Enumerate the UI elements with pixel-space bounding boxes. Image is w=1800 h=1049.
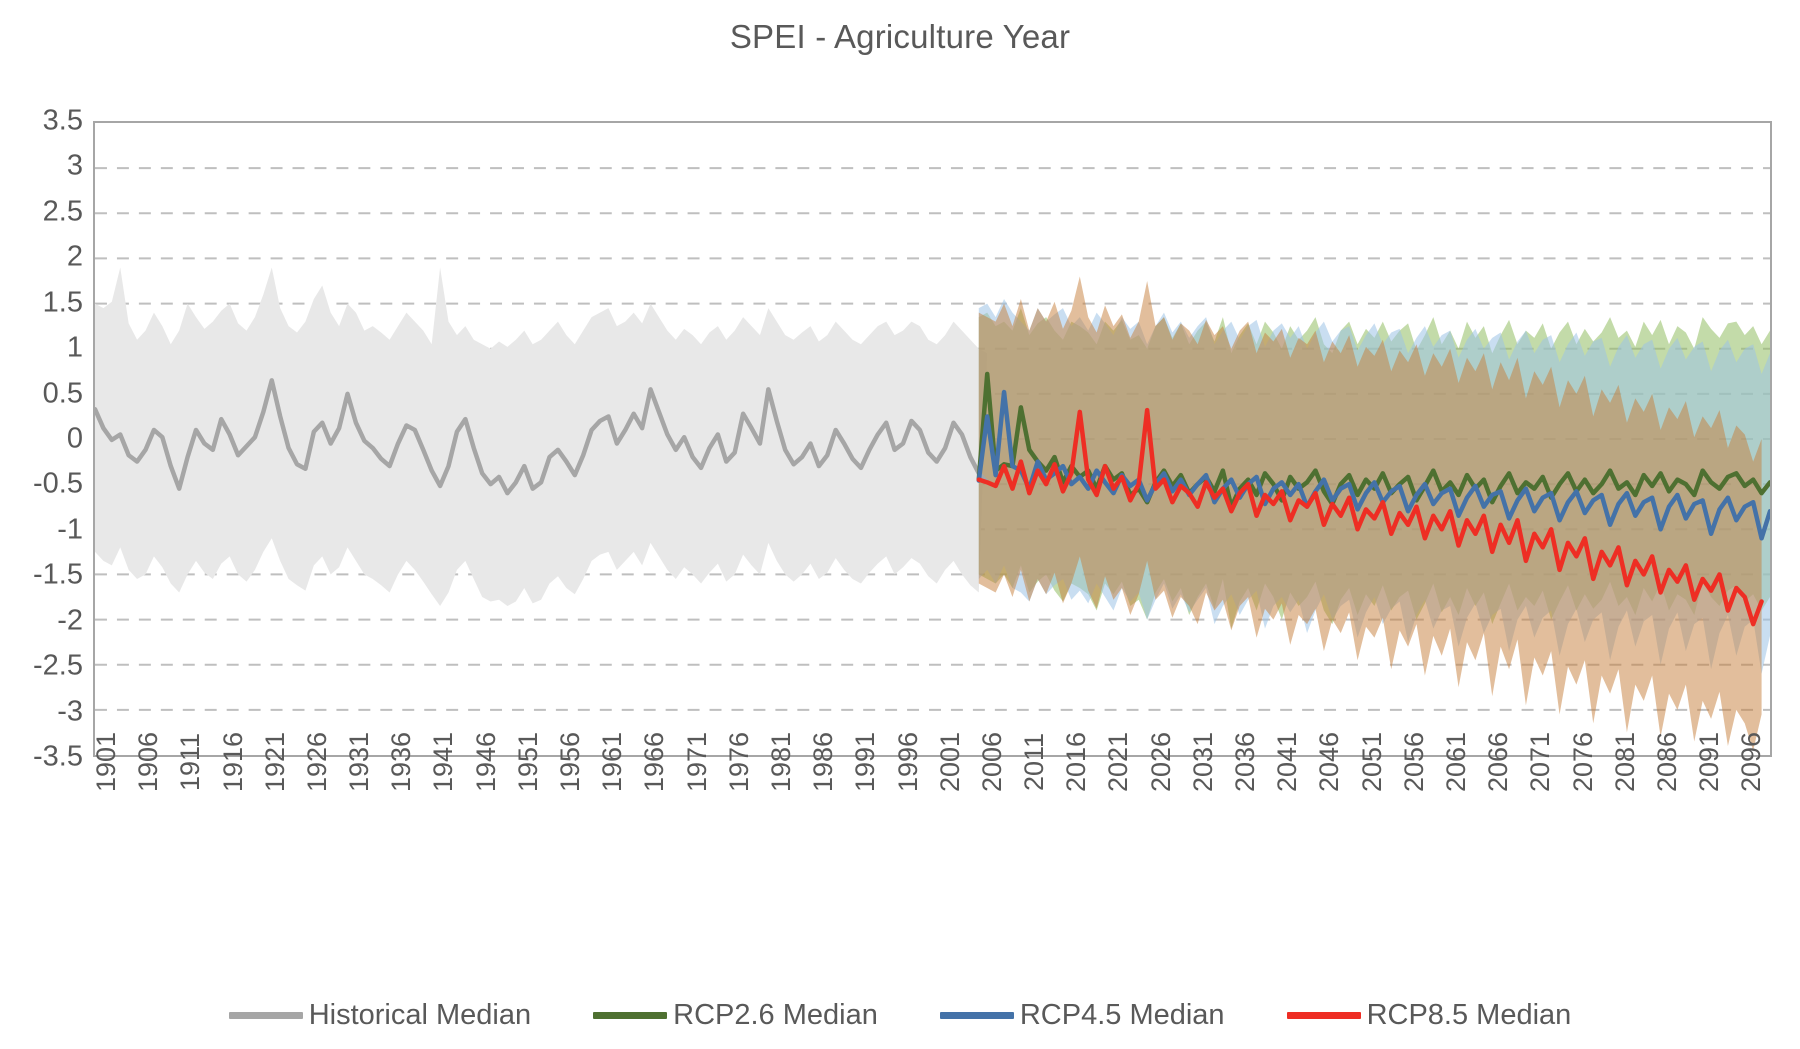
x-tick-label: 1931 [346,732,373,792]
plot-canvas [95,123,1770,755]
x-tick-label: 2016 [1063,732,1090,792]
legend-label: RCP8.5 Median [1367,1001,1572,1030]
x-tick-label: 2051 [1359,732,1386,792]
legend-item-2[interactable]: RCP2.6 Median [593,1001,878,1030]
x-tick-label: 1946 [473,732,500,792]
x-tick-label: 1981 [768,732,795,792]
x-tick-label: 1996 [895,732,922,792]
legend-label: RCP4.5 Median [1020,1001,1225,1030]
legend-line-icon [593,1012,667,1019]
y-tick-label: -3 [57,697,83,726]
x-tick-label: 2041 [1274,732,1301,792]
x-tick-label: 2056 [1401,732,1428,792]
y-tick-label: 0.5 [43,379,83,408]
x-tick-label: 1916 [220,732,247,792]
chart-legend: Historical MedianRCP2.6 MedianRCP4.5 Med… [0,995,1800,1035]
y-axis: 3.532.521.510.50-0.5-1-1.5-2-2.5-3-3.5 [0,121,83,757]
y-tick-label: 1 [67,334,83,363]
x-tick-label: 2026 [1148,732,1175,792]
legend-item-4[interactable]: RCP8.5 Median [1287,1001,1572,1030]
legend-line-icon [1287,1012,1361,1019]
x-tick-label: 1961 [599,732,626,792]
x-tick-label: 1901 [93,732,120,792]
x-tick-label: 2066 [1485,732,1512,792]
y-tick-label: -1.5 [33,561,83,590]
y-tick-label: 3 [67,152,83,181]
legend-line-icon [229,1012,303,1019]
x-tick-label: 1926 [304,732,331,792]
x-tick-label: 1921 [262,732,289,792]
x-tick-label: 1951 [515,732,542,792]
y-tick-label: 1.5 [43,288,83,317]
y-tick-label: 0 [67,425,83,454]
x-tick-label: 2061 [1443,732,1470,792]
legend-label: Historical Median [309,1001,531,1030]
x-tick-label: 1966 [641,732,668,792]
x-axis: 1901190619111916192119261931193619411946… [93,762,1772,882]
x-tick-label: 2076 [1570,732,1597,792]
x-tick-label: 1976 [726,732,753,792]
x-tick-label: 2071 [1527,732,1554,792]
x-tick-label: 1936 [388,732,415,792]
y-tick-label: -2 [57,606,83,635]
x-tick-label: 2011 [1021,733,1048,791]
x-tick-label: 2021 [1105,732,1132,792]
plot-area [93,121,1772,757]
legend-item-1[interactable]: Historical Median [229,1001,531,1030]
x-tick-label: 2091 [1696,732,1723,792]
x-tick-label: 2036 [1232,732,1259,792]
y-tick-label: 2.5 [43,197,83,226]
x-tick-label: 1911 [177,733,204,791]
x-tick-label: 1941 [430,732,457,792]
x-tick-label: 1956 [557,732,584,792]
chart-title: SPEI - Agriculture Year [0,18,1800,56]
y-tick-label: -1 [57,515,83,544]
x-tick-label: 2086 [1654,732,1681,792]
y-tick-label: -3.5 [33,743,83,772]
chart-root: SPEI - Agriculture Year 3.532.521.510.50… [0,0,1800,1049]
x-tick-label: 2046 [1316,732,1343,792]
y-tick-label: 3.5 [43,107,83,136]
x-tick-label: 2001 [937,732,964,792]
x-tick-label: 1991 [852,732,879,792]
x-tick-label: 2031 [1190,732,1217,792]
y-tick-label: -2.5 [33,652,83,681]
x-tick-label: 1971 [684,732,711,792]
legend-line-icon [940,1012,1014,1019]
y-tick-label: -0.5 [33,470,83,499]
x-tick-label: 1906 [135,732,162,792]
y-tick-label: 2 [67,243,83,272]
x-tick-label: 2096 [1738,732,1765,792]
x-tick-label: 2081 [1612,732,1639,792]
x-tick-label: 2006 [979,732,1006,792]
legend-label: RCP2.6 Median [673,1001,878,1030]
x-tick-label: 1986 [810,732,837,792]
legend-item-3[interactable]: RCP4.5 Median [940,1001,1225,1030]
